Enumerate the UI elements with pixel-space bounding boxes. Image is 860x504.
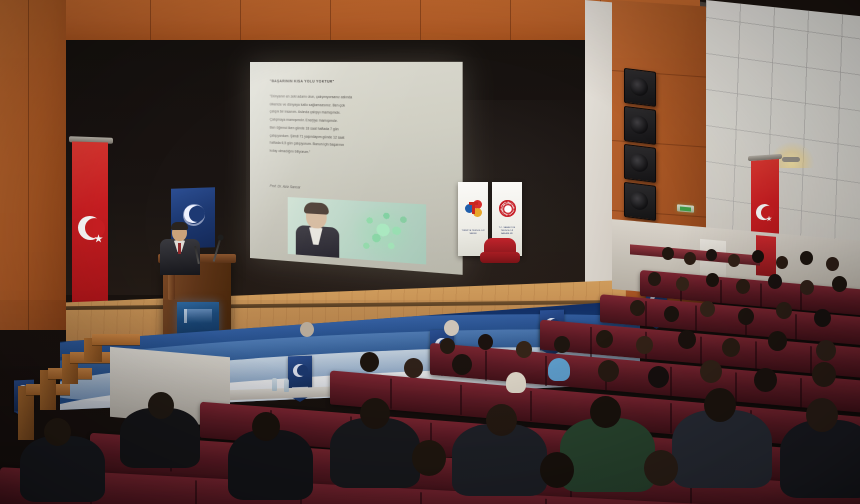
slide-attribution: Prof. Dr. Aziz Sancar <box>270 184 301 190</box>
slide-heading: "BAŞARININ KISA YOLU YOKTUR" <box>270 79 445 84</box>
presenter-figure <box>158 222 204 272</box>
ministry-seal-icon <box>499 200 516 217</box>
slide-portrait-image <box>288 197 426 267</box>
rollup-caption-right: T.C. SANAYİ VE TEKNOLOJİ BAKANLIĞI <box>495 227 519 236</box>
portrait-figure <box>294 201 342 260</box>
slide-body: "Dünyanın en zeki adamı olun, çalışmıyor… <box>270 93 440 162</box>
stage-armchair <box>480 238 520 266</box>
line-array-speaker-stack <box>624 68 658 232</box>
auditorium-photo: "BAŞARININ KISA YOLU YOKTUR" "Dünyanın e… <box>0 0 860 504</box>
turkish-flag-left <box>72 142 108 311</box>
wood-seam <box>28 0 29 330</box>
wall-sconce-icon <box>782 157 800 162</box>
t3-logo-icon <box>465 200 482 217</box>
left-wood-wall <box>0 0 66 330</box>
projection-screen: "BAŞARININ KISA YOLU YOKTUR" "Dünyanın e… <box>250 62 463 275</box>
exit-sign-icon <box>677 204 694 212</box>
molecule-graphic <box>350 202 417 263</box>
slide-content: "BAŞARININ KISA YOLU YOKTUR" "Dünyanın e… <box>258 67 456 267</box>
crescent-icon <box>184 205 202 224</box>
rollup-caption-left: TÜRKİYE TEKNOLOJİ TAKIMI <box>461 230 485 236</box>
